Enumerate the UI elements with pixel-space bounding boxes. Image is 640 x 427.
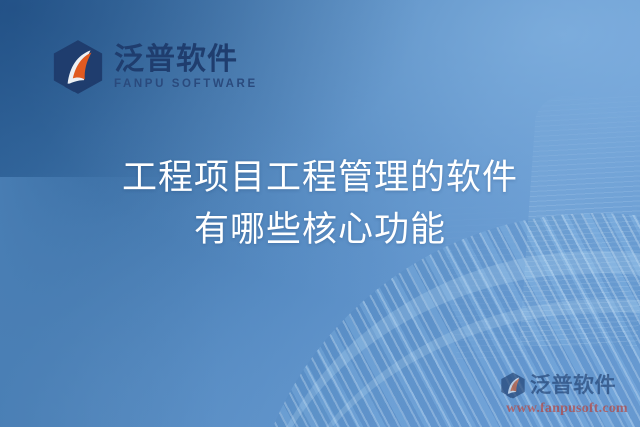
watermark: 泛普软件 www.fanpusoft.com — [500, 372, 634, 417]
promo-banner: 泛普软件 FANPU SOFTWARE 工程项目工程管理的软件 有哪些核心功能 … — [0, 0, 640, 427]
fanpu-hexagon-logo-icon — [500, 372, 526, 399]
page-title-line-2: 有哪些核心功能 — [0, 204, 640, 256]
brand-name-en: FANPU SOFTWARE — [114, 78, 258, 90]
watermark-row: 泛普软件 — [500, 372, 634, 399]
brand-text: 泛普软件 FANPU SOFTWARE — [114, 44, 258, 91]
watermark-name-cn: 泛普软件 — [530, 375, 616, 396]
brand-name-cn: 泛普软件 — [114, 44, 258, 76]
fanpu-hexagon-logo-icon — [52, 40, 104, 94]
brand-logo: 泛普软件 FANPU SOFTWARE — [52, 40, 258, 94]
page-title: 工程项目工程管理的软件 有哪些核心功能 — [0, 152, 640, 256]
page-title-line-1: 工程项目工程管理的软件 — [0, 152, 640, 204]
watermark-url: www.fanpusoft.com — [500, 401, 634, 417]
